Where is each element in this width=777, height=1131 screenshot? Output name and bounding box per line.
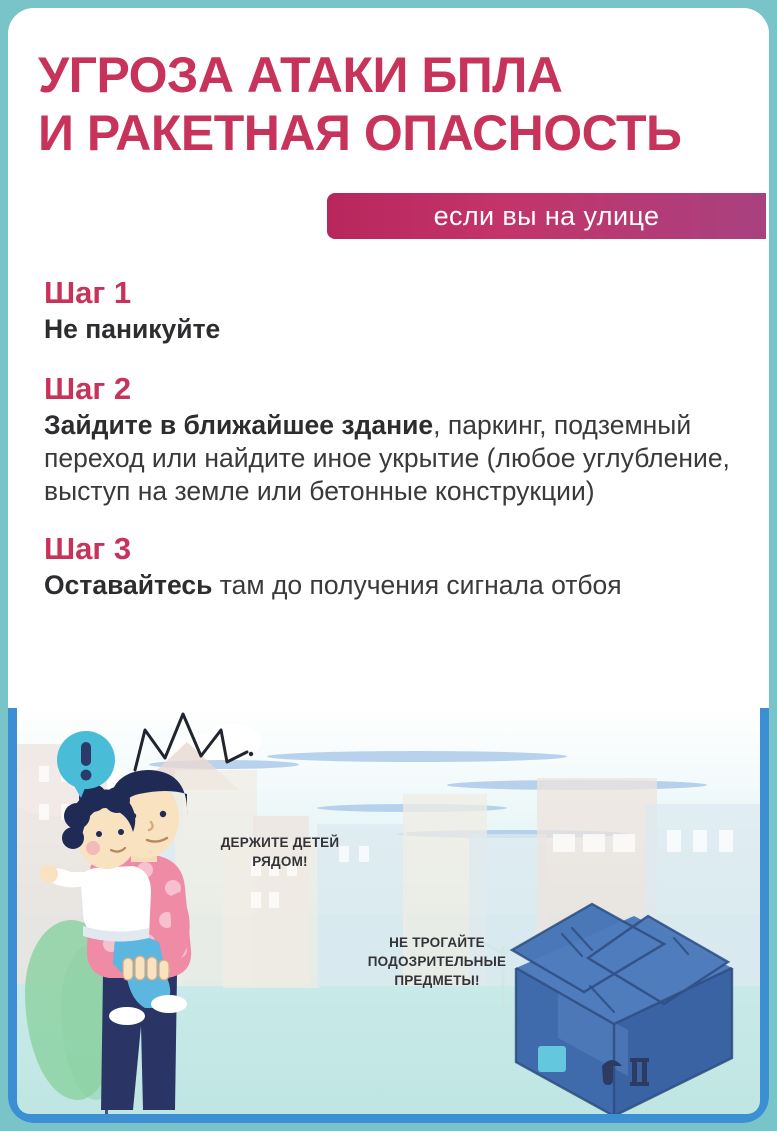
building-window <box>583 834 605 852</box>
step-1-body: Не паникуйте <box>44 313 734 346</box>
woman-child-svg <box>27 764 237 1114</box>
step-item-2: Шаг 2 Зайдите в ближайшее здание, паркин… <box>44 370 734 508</box>
steps-list: Шаг 1 Не паникуйте Шаг 2 Зайдите в ближа… <box>44 274 734 620</box>
spark-doodle-illustration <box>129 708 259 788</box>
step-3-label: Шаг 3 <box>44 530 734 567</box>
subtitle-text: если вы на улице <box>434 201 660 231</box>
step-3-bold: Оставайтесь <box>44 570 212 600</box>
step-item-1: Шаг 1 Не паникуйте <box>44 274 734 346</box>
building-window <box>359 846 369 862</box>
building-window <box>553 834 575 852</box>
step-3-rest: там до получения сигнала отбоя <box>212 570 621 600</box>
page-title-line-2: И РАКЕТНАЯ ОПАСНОСТЬ <box>38 104 738 162</box>
building-window <box>269 892 279 908</box>
step-2-body: Зайдите в ближайшее здание, паркинг, под… <box>44 409 734 508</box>
building-window <box>251 892 261 908</box>
building-window <box>613 834 635 852</box>
poster-root: УГРОЗА АТАКИ БПЛА И РАКЕТНАЯ ОПАСНОСТЬ е… <box>0 0 777 1131</box>
page-title: УГРОЗА АТАКИ БПЛА И РАКЕТНАЯ ОПАСНОСТЬ <box>38 46 738 162</box>
poster-card: УГРОЗА АТАКИ БПЛА И РАКЕТНАЯ ОПАСНОСТЬ е… <box>8 8 769 1123</box>
caption-do-not-touch-objects: НЕ ТРОГАЙТЕ ПОДОЗРИТЕЛЬНЫЕ ПРЕДМЕТЫ! <box>337 933 537 990</box>
woman-holding-child-illustration <box>27 764 237 1114</box>
cloud-streak-icon <box>267 751 567 762</box>
step-1-bold: Не паникуйте <box>44 314 220 344</box>
text-section: УГРОЗА АТАКИ БПЛА И РАКЕТНАЯ ОПАСНОСТЬ е… <box>8 8 769 708</box>
subtitle-banner: если вы на улице <box>327 193 766 239</box>
building-window <box>719 830 733 852</box>
exclamation-badge-illustration <box>55 730 117 802</box>
exclamation-badge-icon <box>55 730 117 802</box>
step-2-label: Шаг 2 <box>44 370 734 407</box>
step-3-body: Оставайтесь там до получения сигнала отб… <box>44 569 734 602</box>
spark-doodle-icon <box>129 708 259 788</box>
caption-keep-children-close: ДЕРЖИТЕ ДЕТЕЙ РЯДОМ! <box>205 833 355 871</box>
step-2-bold: Зайдите в ближайшее здание <box>44 410 433 440</box>
step-item-3: Шаг 3 Оставайтесь там до получения сигна… <box>44 530 734 602</box>
illustration-canvas: ДЕРЖИТЕ ДЕТЕЙ РЯДОМ! НЕ ТРОГАЙТЕ ПОДОЗРИ… <box>17 708 760 1114</box>
step-1-label: Шаг 1 <box>44 274 734 311</box>
page-title-line-1: УГРОЗА АТАКИ БПЛА <box>38 46 738 104</box>
illustration-section: ДЕРЖИТЕ ДЕТЕЙ РЯДОМ! НЕ ТРОГАЙТЕ ПОДОЗРИ… <box>8 708 769 1123</box>
building-window <box>693 830 707 852</box>
building-window <box>667 830 681 852</box>
